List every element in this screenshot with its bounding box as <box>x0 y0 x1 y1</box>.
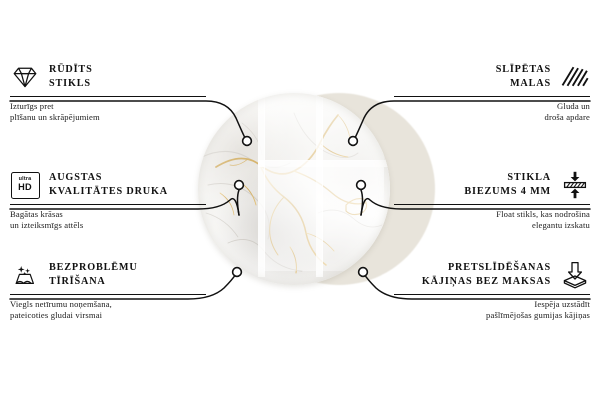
connector-right-middle-tail <box>361 190 363 215</box>
connector-left-middle-tail <box>238 190 240 215</box>
feature-description: Izturīgs pret plīšanu un skrāpējumiem <box>10 101 206 124</box>
marker-left-middle <box>235 181 244 190</box>
thickness-arrows-icon <box>560 170 590 200</box>
feature-title: RŪDĪTS STIKLS <box>49 63 93 91</box>
ultra-hd-icon: ultra HD <box>10 170 40 200</box>
feature-description: Iespēja uzstādīt pašlīmējošas gumijas kā… <box>394 299 590 322</box>
feature-divider <box>10 96 206 97</box>
feature-description: Gluda un droša apdare <box>394 101 590 124</box>
feature-divider <box>394 96 590 97</box>
feature-header: SLĪPĒTAS MALAS <box>394 60 590 94</box>
feature-header: RŪDĪTS STIKLS <box>10 60 206 94</box>
ultra-hd-badge: ultra HD <box>11 172 40 199</box>
feature-glass-thickness: STIKLA BIEZUMS 4 MM Float stikls, kas no… <box>394 168 590 232</box>
marker-left-top <box>243 137 252 146</box>
marker-right-middle <box>357 181 366 190</box>
feature-header: BEZPROBLĒMU TĪRĪŠANA <box>10 258 206 292</box>
feature-title: PRETSLĪDĒŠANAS KĀJIŅAS BEZ MAKSAS <box>422 261 551 289</box>
thickness-arrows-svg <box>561 171 589 199</box>
feature-title: SLĪPĒTAS MALAS <box>496 63 551 91</box>
marker-left-bottom <box>233 268 242 277</box>
feature-polished-edges: SLĪPĒTAS MALAS Gluda un droša apdare <box>394 60 590 124</box>
feature-divider <box>10 204 206 205</box>
feature-divider <box>394 204 590 205</box>
feature-description: Float stikls, kas nodrošina elegantu izs… <box>394 209 590 232</box>
press-down-icon <box>560 260 590 290</box>
sponge-sparkle-icon <box>10 260 40 290</box>
feature-tempered-glass: RŪDĪTS STIKLS Izturīgs pret plīšanu un s… <box>10 60 206 124</box>
feature-title: STIKLA BIEZUMS 4 MM <box>464 171 551 199</box>
feature-header: STIKLA BIEZUMS 4 MM <box>394 168 590 202</box>
feature-anti-slip-feet: PRETSLĪDĒŠANAS KĀJIŅAS BEZ MAKSAS Iespēj… <box>394 258 590 322</box>
feature-divider <box>10 294 206 295</box>
diamond-icon <box>10 62 40 92</box>
feature-infographic: RŪDĪTS STIKLS Izturīgs pret plīšanu un s… <box>0 0 600 400</box>
feature-divider <box>394 294 590 295</box>
feature-title: AUGSTAS KVALITĀTES DRUKA <box>49 171 168 199</box>
marker-right-top <box>349 137 358 146</box>
feature-easy-cleaning: BEZPROBLĒMU TĪRĪŠANA Viegls netīrumu noņ… <box>10 258 206 322</box>
feature-title: BEZPROBLĒMU TĪRĪŠANA <box>49 261 138 289</box>
feature-description: Bagātas krāsas un izteiksmīgs attēls <box>10 209 206 232</box>
feature-high-quality-print: ultra HD AUGSTAS KVALITĀTES DRUKA Bagāta… <box>10 168 206 232</box>
feature-description: Viegls netīrumu noņemšana, pateicoties g… <box>10 299 206 322</box>
ultra-hd-hd-text: HD <box>18 183 32 192</box>
feature-header: PRETSLĪDĒŠANAS KĀJIŅAS BEZ MAKSAS <box>394 258 590 292</box>
polished-edge-icon <box>560 62 590 92</box>
feature-header: ultra HD AUGSTAS KVALITĀTES DRUKA <box>10 168 206 202</box>
marker-right-bottom <box>359 268 368 277</box>
